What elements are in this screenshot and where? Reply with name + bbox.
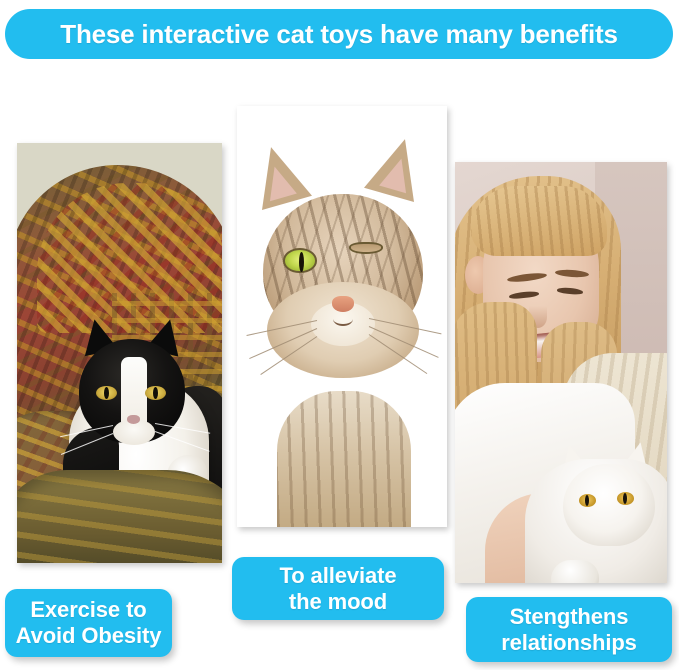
tabby-eye-left <box>283 248 317 273</box>
caption-line-2: relationships <box>501 630 637 655</box>
armchair-seat <box>17 470 222 563</box>
header-banner: These interactive cat toys have many ben… <box>5 9 673 59</box>
cat-eye-right <box>145 386 166 400</box>
tabby-eye-right-winking <box>349 242 383 254</box>
cat-eye-left <box>96 386 117 400</box>
photo-panel-relationships <box>455 162 667 583</box>
tabby-chest <box>277 391 411 527</box>
white-cat-eye-left <box>579 494 596 507</box>
infographic-root: These interactive cat toys have many ben… <box>0 0 679 670</box>
tabby-mouth <box>333 312 353 326</box>
tabby-pupil-left <box>299 252 304 272</box>
caption-line-1: Stengthens <box>510 604 629 629</box>
caption-line-2: Avoid Obesity <box>16 623 162 648</box>
page-title: These interactive cat toys have many ben… <box>60 19 617 50</box>
white-cat-paw <box>551 560 599 583</box>
caption-line-1: Exercise to <box>30 597 146 622</box>
photo-scene-tabby-cat-portrait <box>237 106 447 527</box>
caption-line-1: To alleviate <box>280 563 397 588</box>
photo-panel-exercise <box>17 143 222 563</box>
tabby-nose <box>332 296 354 312</box>
caption-badge-relationships-text: Stengthensrelationships <box>501 604 637 656</box>
white-cat-eye-right <box>617 492 634 505</box>
cat-nose <box>127 415 140 424</box>
caption-badge-mood-text: To alleviatethe mood <box>280 563 397 615</box>
photo-scene-tuxedo-cat-armchair <box>17 143 222 563</box>
photo-panel-mood <box>237 106 447 527</box>
woman-hair-front <box>471 186 607 256</box>
caption-badge-mood: To alleviatethe mood <box>232 557 444 620</box>
caption-badge-relationships: Stengthensrelationships <box>466 597 672 662</box>
white-cat-head <box>563 464 655 546</box>
caption-line-2: the mood <box>289 589 387 614</box>
caption-badge-exercise: Exercise toAvoid Obesity <box>5 589 172 657</box>
caption-badge-exercise-text: Exercise toAvoid Obesity <box>16 597 162 649</box>
photo-scene-woman-holding-white-cat <box>455 162 667 583</box>
